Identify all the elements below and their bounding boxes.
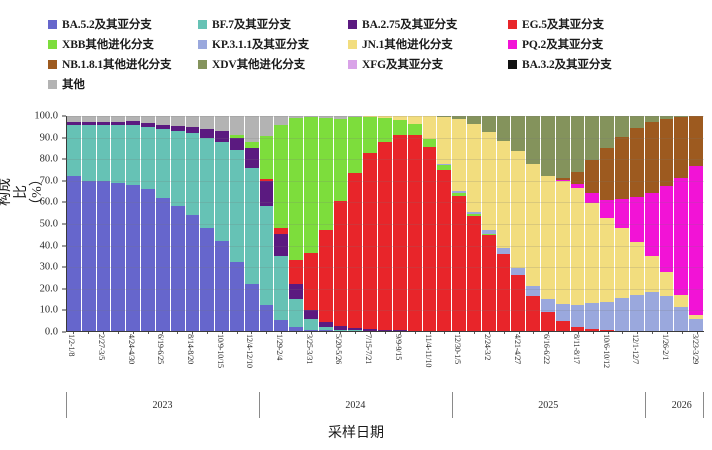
stack-segment: [674, 295, 688, 307]
stack-column: [541, 116, 556, 331]
stack-segment: [541, 299, 555, 311]
stack-segment: [571, 327, 585, 331]
stack-segment: [541, 116, 555, 176]
x-tick-label: 8/11-8/17: [572, 334, 581, 364]
stack-segment: [289, 284, 303, 298]
stack-segment: [645, 193, 659, 256]
stack-segment: [230, 262, 244, 331]
stack-segment: [245, 116, 259, 142]
stack-column: [556, 116, 571, 331]
stack-segment: [660, 186, 674, 272]
stacked-area-plot: [66, 116, 704, 332]
stack-column: [689, 116, 704, 331]
chart-page: BA.5.2及其亚分支BF.7及其亚分支BA.2.75及其亚分支EG.5及其亚分…: [0, 0, 712, 450]
stack-segment: [186, 133, 200, 215]
stack-segment: [289, 118, 303, 260]
stack-segment: [423, 147, 437, 331]
stack-column: [141, 116, 156, 331]
stack-segment: [304, 117, 318, 253]
stack-segment: [585, 329, 599, 331]
stack-segment: [334, 119, 348, 201]
stack-column: [423, 116, 438, 331]
stack-segment: [230, 150, 244, 262]
y-axis-title: 构成比（%）: [2, 168, 22, 216]
stack-segment: [511, 151, 525, 268]
stack-column: [97, 116, 112, 331]
y-tick-label: 30.0: [40, 262, 58, 273]
stack-column: [467, 116, 482, 331]
stack-segment: [482, 235, 496, 331]
stack-segment: [245, 168, 259, 284]
stack-segment: [571, 116, 585, 172]
stack-segment: [660, 119, 674, 186]
stack-segment: [82, 181, 96, 332]
year-separator: [259, 392, 260, 418]
stack-segment: [171, 131, 185, 206]
stack-segment: [674, 307, 688, 331]
stack-segment: [585, 193, 599, 203]
x-tick-label: 12/30-1/5: [453, 334, 462, 364]
stack-column: [200, 116, 215, 331]
year-separator: [703, 392, 704, 418]
stack-segment: [274, 116, 288, 125]
stack-segment: [630, 116, 644, 128]
x-axis-title: 采样日期: [0, 422, 712, 442]
stack-segment: [615, 116, 629, 137]
stack-segment: [408, 135, 422, 331]
x-tick-label: 1/26-2/1: [661, 334, 670, 360]
stack-column: [245, 116, 260, 331]
stack-segment: [497, 116, 511, 141]
stack-segment: [363, 117, 377, 154]
stack-segment: [141, 116, 155, 123]
y-tick-label: 100.0: [34, 111, 58, 122]
stack-segment: [260, 116, 274, 136]
y-tick-label: 40.0: [40, 240, 58, 251]
y-tick-label: 70.0: [40, 175, 58, 186]
stack-segment: [556, 321, 570, 331]
x-tick-label: 8/14-8/20: [186, 334, 195, 364]
stack-segment: [615, 137, 629, 199]
stack-segment: [408, 116, 422, 124]
stack-segment: [82, 125, 96, 181]
stack-segment: [585, 160, 599, 192]
stack-segment: [600, 116, 614, 148]
stack-segment: [156, 129, 170, 198]
y-tick-label: 50.0: [40, 219, 58, 230]
stack-segment: [689, 166, 703, 315]
stack-column: [437, 116, 452, 331]
stack-segment: [467, 216, 481, 331]
stack-segment: [408, 124, 422, 134]
stack-segment: [215, 116, 229, 131]
x-tick-label: 3/23-3/29: [691, 334, 700, 364]
x-tick-label: 4/24-4/30: [127, 334, 136, 364]
stack-column: [230, 116, 245, 331]
stack-segment: [378, 118, 392, 142]
stack-segment: [615, 298, 629, 331]
year-label: 2024: [345, 400, 365, 411]
stack-segment: [585, 203, 599, 304]
stack-segment: [393, 120, 407, 135]
stack-segment: [600, 200, 614, 218]
stack-segment: [393, 135, 407, 330]
stack-segment: [348, 173, 362, 328]
stack-segment: [186, 215, 200, 331]
stack-column: [111, 116, 126, 331]
stack-segment: [260, 206, 274, 305]
stack-segment: [378, 142, 392, 330]
y-tick-label: 0.0: [45, 327, 58, 338]
x-tick-label: 9/9-9/15: [394, 334, 403, 360]
stack-segment: [645, 292, 659, 331]
y-axis-ticks: 0.010.020.030.040.050.060.070.080.090.01…: [22, 112, 62, 332]
x-tick-label: 5/20-5/26: [334, 334, 343, 364]
stack-column: [289, 116, 304, 331]
stack-column: [334, 116, 349, 331]
stack-segment: [260, 181, 274, 207]
stack-column: [378, 116, 393, 331]
stack-column: [408, 116, 423, 331]
stack-segment: [526, 116, 540, 164]
plot-wrapper: 构成比（%） 0.010.020.030.040.050.060.070.080…: [0, 0, 712, 450]
stack-segment: [511, 116, 525, 151]
stack-column: [215, 116, 230, 331]
stack-segment: [215, 131, 229, 142]
x-tick-label: 4/21-4/27: [513, 334, 522, 364]
stack-column: [393, 116, 408, 331]
stack-segment: [423, 139, 437, 147]
stack-column: [82, 116, 97, 331]
stack-column: [615, 116, 630, 331]
x-tick-label: 1/2-1/8: [67, 334, 76, 356]
stack-segment: [571, 305, 585, 327]
stack-segment: [304, 310, 318, 319]
stack-segment: [645, 256, 659, 292]
stack-segment: [556, 304, 570, 321]
y-tick-label: 20.0: [40, 283, 58, 294]
stack-segment: [274, 125, 288, 228]
stack-segment: [156, 116, 170, 125]
stack-segment: [215, 241, 229, 331]
stack-segment: [111, 125, 125, 183]
stack-segment: [289, 260, 303, 284]
stack-column: [630, 116, 645, 331]
stack-segment: [497, 254, 511, 331]
stack-segment: [511, 275, 525, 331]
stack-segment: [111, 183, 125, 331]
stack-segment: [556, 181, 570, 304]
stack-segment: [497, 141, 511, 248]
stack-segment: [541, 176, 555, 299]
year-separator: [452, 392, 453, 418]
stack-segment: [274, 320, 288, 331]
stack-column: [600, 116, 615, 331]
stack-segment: [274, 256, 288, 321]
x-tick-label: 12/1-12/7: [631, 334, 640, 364]
stack-segment: [393, 330, 407, 331]
stack-segment: [526, 296, 540, 331]
stack-segment: [378, 330, 392, 331]
stack-segment: [423, 116, 437, 139]
stack-segment: [260, 136, 274, 179]
stack-segment: [660, 272, 674, 296]
stack-segment: [571, 172, 585, 184]
year-label: 2023: [152, 400, 172, 411]
stack-segment: [615, 228, 629, 298]
stack-column: [186, 116, 201, 331]
stack-segment: [585, 303, 599, 329]
stack-segment: [630, 242, 644, 295]
stack-segment: [615, 199, 629, 228]
stack-segment: [186, 116, 200, 127]
stack-segment: [689, 116, 703, 166]
stack-segment: [97, 125, 111, 181]
stack-segment: [630, 128, 644, 197]
x-tick-label: 10/6-10/12: [602, 334, 611, 368]
stack-segment: [245, 284, 259, 331]
stack-segment: [200, 228, 214, 331]
stack-segment: [660, 296, 674, 331]
stack-segment: [467, 124, 481, 212]
stack-column: [126, 116, 141, 331]
stack-segment: [260, 305, 274, 331]
x-tick-label: 12/4-12/10: [245, 334, 254, 368]
stack-segment: [630, 295, 644, 332]
stack-column: [526, 116, 541, 331]
stack-segment: [156, 198, 170, 331]
stack-segment: [289, 327, 303, 331]
stack-segment: [556, 116, 570, 178]
stack-column: [67, 116, 82, 331]
year-separator: [645, 392, 646, 418]
stack-segment: [600, 330, 614, 331]
stack-segment: [304, 253, 318, 310]
stack-segment: [141, 127, 155, 189]
stack-column: [171, 116, 186, 331]
stack-segment: [200, 129, 214, 138]
x-tick-label: 11/4-11/10: [424, 334, 433, 367]
year-band: 2023202420252026: [66, 396, 704, 420]
stack-segment: [585, 116, 599, 160]
stack-column: [511, 116, 526, 331]
x-tick-label: 3/25-3/31: [305, 334, 314, 364]
stack-segment: [126, 125, 140, 185]
stack-segment: [319, 230, 333, 321]
year-label: 2025: [538, 400, 558, 411]
stack-segment: [600, 218, 614, 302]
stack-segment: [230, 138, 244, 151]
y-tick-label: 10.0: [40, 305, 58, 316]
stack-segment: [334, 201, 348, 326]
stack-segment: [319, 330, 333, 331]
stack-segment: [304, 319, 318, 330]
stack-segment: [600, 302, 614, 330]
stack-segment: [526, 286, 540, 296]
stack-segment: [245, 148, 259, 167]
stack-segment: [348, 117, 362, 173]
stack-segment: [171, 206, 185, 331]
stack-segment: [171, 116, 185, 126]
stack-segment: [363, 329, 377, 331]
y-tick-label: 80.0: [40, 154, 58, 165]
x-axis-labels: 1/2-1/82/27-3/54/24-4/306/19-6/258/14-8/…: [66, 334, 704, 396]
stack-column: [260, 116, 275, 331]
stack-segment: [571, 188, 585, 305]
stack-column: [660, 116, 675, 331]
stack-segment: [363, 153, 377, 329]
year-label: 2026: [672, 400, 692, 411]
x-tick-label: 10/9-10/15: [216, 334, 225, 368]
stack-column: [363, 116, 378, 331]
stack-segment: [437, 117, 451, 165]
stack-segment: [630, 197, 644, 242]
stack-column: [156, 116, 171, 331]
stack-column: [497, 116, 512, 331]
x-tick-label: 2/27-3/5: [97, 334, 106, 360]
stack-segment: [452, 119, 466, 191]
stack-segment: [526, 164, 540, 286]
year-separator: [66, 392, 67, 418]
stack-column: [452, 116, 467, 331]
stack-segment: [674, 178, 688, 295]
stack-segment: [67, 125, 81, 177]
stack-segment: [215, 142, 229, 241]
stack-segment: [274, 234, 288, 256]
stack-segment: [67, 176, 81, 331]
stack-segment: [97, 181, 111, 332]
stack-segment: [645, 122, 659, 193]
x-tick-label: 2/24-3/2: [483, 334, 492, 360]
stack-column: [482, 116, 497, 331]
stack-segment: [304, 330, 318, 331]
stack-segment: [452, 196, 466, 331]
stack-segment: [600, 148, 614, 200]
stack-column: [304, 116, 319, 331]
stack-column: [274, 116, 289, 331]
x-tick-label: 6/16-6/22: [542, 334, 551, 364]
stack-segment: [141, 189, 155, 331]
stack-segment: [200, 116, 214, 129]
stack-column: [319, 116, 334, 331]
x-tick-label: 6/19-6/25: [156, 334, 165, 364]
stack-segment: [674, 117, 688, 178]
stack-column: [585, 116, 600, 331]
stack-segment: [200, 138, 214, 228]
stack-segment: [126, 185, 140, 331]
stack-segment: [541, 312, 555, 331]
stack-column: [348, 116, 363, 331]
stack-segment: [437, 170, 451, 331]
stack-column: [674, 116, 689, 331]
stack-segment: [511, 268, 525, 275]
stack-column: [571, 116, 586, 331]
stack-segment: [289, 299, 303, 327]
stack-segment: [319, 118, 333, 231]
x-tick-label: 7/15-7/21: [364, 334, 373, 364]
y-tick-label: 90.0: [40, 132, 58, 143]
stack-column: [645, 116, 660, 331]
stack-segment: [482, 116, 496, 132]
stack-segment: [689, 319, 703, 331]
x-tick-label: 1/29-2/4: [275, 334, 284, 360]
stack-segment: [482, 132, 496, 230]
y-tick-label: 60.0: [40, 197, 58, 208]
stack-segment: [467, 116, 481, 124]
stack-segment: [230, 116, 244, 135]
